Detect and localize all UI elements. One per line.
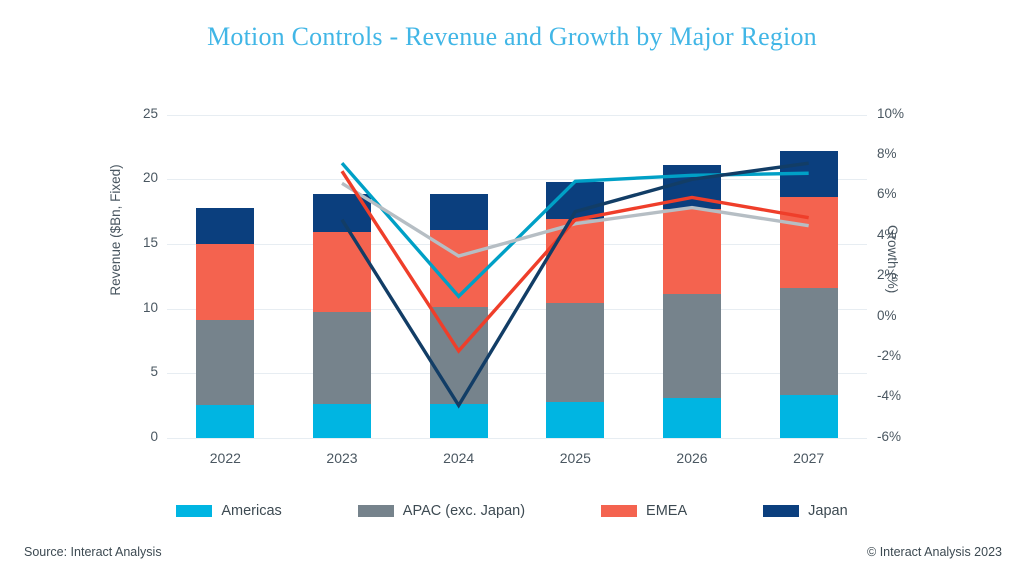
line-series-group [0,0,1024,576]
growth-line [342,171,809,351]
legend-item[interactable]: EMEA [601,503,687,519]
growth-line [342,163,809,405]
chart-plot-area: 0510152025 -6%-4%-2%0%2%4%6%8%10% 202220… [0,0,1024,576]
legend-item[interactable]: Americas [176,503,281,519]
legend-item-label: APAC (exc. Japan) [403,503,525,519]
copyright-note: © Interact Analysis 2023 [867,545,1002,559]
legend-item-label: Japan [808,503,848,519]
chart-legend: AmericasAPAC (exc. Japan)EMEAJapan [0,503,1024,519]
legend-item[interactable]: APAC (exc. Japan) [358,503,525,519]
y-axis-left-title: Revenue ($Bn, Fixed) [108,130,123,330]
legend-swatch-icon [358,505,394,517]
source-note: Source: Interact Analysis [24,545,162,559]
legend-item-label: EMEA [646,503,687,519]
legend-swatch-icon [601,505,637,517]
y-axis-right-title: Growth (%) [885,225,900,345]
legend-item-label: Americas [221,503,281,519]
legend-swatch-icon [176,505,212,517]
legend-item[interactable]: Japan [763,503,848,519]
legend-swatch-icon [763,505,799,517]
